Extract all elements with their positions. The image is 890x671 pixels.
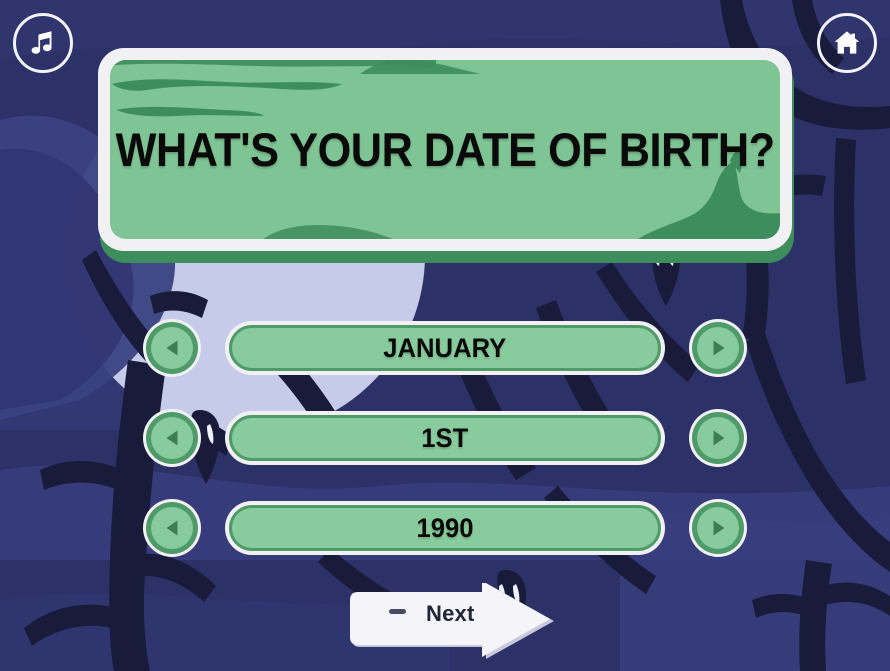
home-button[interactable] (817, 13, 877, 73)
next-button[interactable]: Next (344, 583, 559, 663)
selector-row-day: 1ST (0, 393, 890, 483)
arrow-ring (692, 412, 744, 464)
day-value-pill[interactable]: 1ST (225, 411, 665, 465)
banner-frame: WHAT'S YOUR DATE OF BIRTH? (98, 48, 792, 251)
year-next-button[interactable] (689, 499, 747, 557)
moss-decoration-top-center (360, 60, 480, 76)
arrow-ring (692, 502, 744, 554)
quiz-screen: WHAT'S YOUR DATE OF BIRTH? (0, 0, 890, 671)
chevron-right-icon (706, 516, 730, 540)
pill-inner: 1ST (229, 415, 661, 461)
arrow-face (697, 417, 739, 459)
year-value-label: 1990 (416, 513, 473, 544)
month-value-pill[interactable]: JANUARY (225, 321, 665, 375)
pill-inner: JANUARY (229, 325, 661, 371)
question-text: WHAT'S YOUR DATE OF BIRTH? (116, 122, 775, 177)
year-value-pill[interactable]: 1990 (225, 501, 665, 555)
music-note-icon (28, 28, 58, 58)
arrow-ring (692, 322, 744, 374)
selector-row-month: JANUARY (0, 303, 890, 393)
arrow-ring (146, 502, 198, 554)
chevron-left-icon (160, 516, 184, 540)
next-dash-decoration (389, 609, 406, 614)
pill-inner: 1990 (229, 505, 661, 551)
question-banner: WHAT'S YOUR DATE OF BIRTH? (98, 48, 792, 259)
chevron-left-icon (160, 426, 184, 450)
date-selector-group: JANUARY (0, 303, 890, 573)
selector-row-year: 1990 (0, 483, 890, 573)
home-icon (832, 28, 862, 58)
day-value-label: 1ST (421, 423, 468, 454)
arrow-ring (146, 322, 198, 374)
day-prev-button[interactable] (143, 409, 201, 467)
arrow-ring (146, 412, 198, 464)
moss-decoration-bottom-center (256, 219, 406, 239)
arrow-face (151, 507, 193, 549)
day-next-button[interactable] (689, 409, 747, 467)
next-button-label: Next (426, 601, 475, 627)
music-toggle-button[interactable] (13, 13, 73, 73)
month-next-button[interactable] (689, 319, 747, 377)
chevron-right-icon (706, 336, 730, 360)
banner-inner: WHAT'S YOUR DATE OF BIRTH? (110, 60, 780, 239)
chevron-right-icon (706, 426, 730, 450)
arrow-face (151, 417, 193, 459)
arrow-face (697, 507, 739, 549)
arrow-face (151, 327, 193, 369)
chevron-left-icon (160, 336, 184, 360)
month-value-label: JANUARY (383, 333, 506, 364)
month-prev-button[interactable] (143, 319, 201, 377)
arrow-face (697, 327, 739, 369)
year-prev-button[interactable] (143, 499, 201, 557)
